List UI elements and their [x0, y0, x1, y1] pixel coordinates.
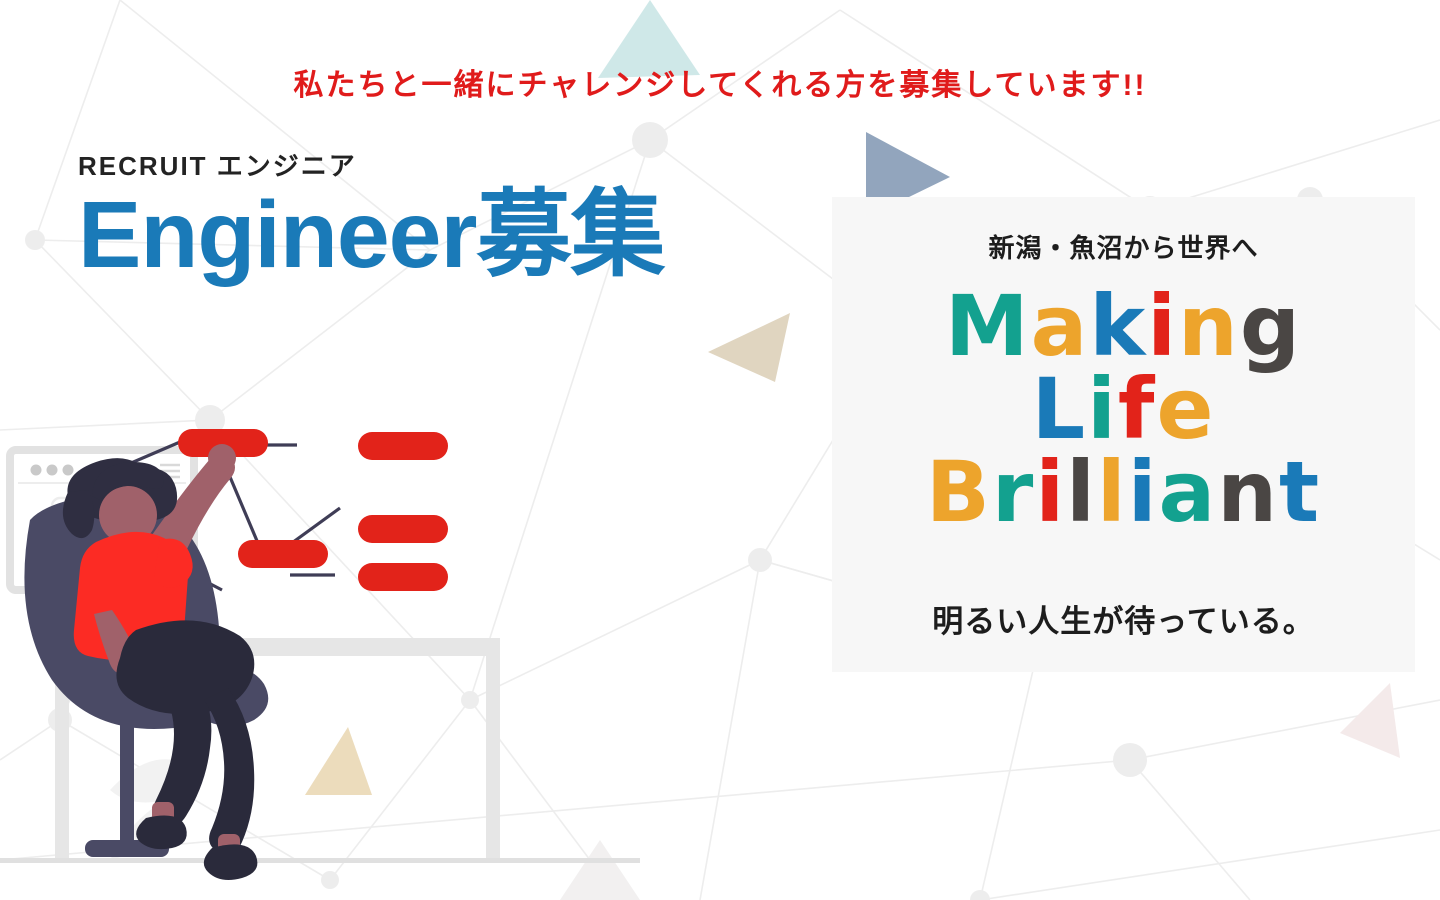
- triangle-pink-icon: [1340, 683, 1400, 758]
- recruitment-banner: 新潟・魚沼から世界へ Making Life Brilliant 明るい人生が待…: [0, 0, 1440, 900]
- slogan-letter-7: n: [1217, 443, 1279, 541]
- slogan-line-brilliant: Brilliant: [832, 451, 1415, 534]
- node-4: [358, 515, 448, 543]
- slogan-line-life: Life: [832, 368, 1415, 451]
- slogan-letter-0: M: [945, 277, 1031, 375]
- slogan-letter-8: t: [1279, 443, 1321, 541]
- slogan-letter-0: B: [926, 443, 992, 541]
- recruit-kicker: RECRUIT エンジニア: [78, 146, 357, 183]
- slogan-line-making: Making: [832, 285, 1415, 368]
- node-3: [238, 540, 328, 568]
- engineer-illustration: [0, 420, 700, 890]
- node-5: [358, 563, 448, 591]
- slogan-letter-6: a: [1159, 443, 1218, 541]
- slogan-letter-5: i: [1128, 443, 1159, 541]
- slogan-subtitle: 新潟・魚沼から世界へ: [832, 228, 1415, 265]
- slogan-letter-4: l: [1097, 443, 1128, 541]
- slogan-wordmark: Making Life Brilliant: [832, 285, 1415, 534]
- triangle-beige-icon: [708, 313, 790, 382]
- page-title: Engineer募集: [78, 186, 665, 286]
- slogan-letter-3: l: [1066, 443, 1097, 541]
- slogan-letter-5: g: [1240, 277, 1302, 375]
- slogan-letter-1: r: [992, 443, 1035, 541]
- node-2: [358, 432, 448, 460]
- lead-copy: 私たちと一緒にチャレンジしてくれる方を募集しています!!: [0, 60, 1440, 104]
- slogan-letter-2: i: [1035, 443, 1066, 541]
- slogan-footer: 明るい人生が待っている。: [832, 596, 1415, 641]
